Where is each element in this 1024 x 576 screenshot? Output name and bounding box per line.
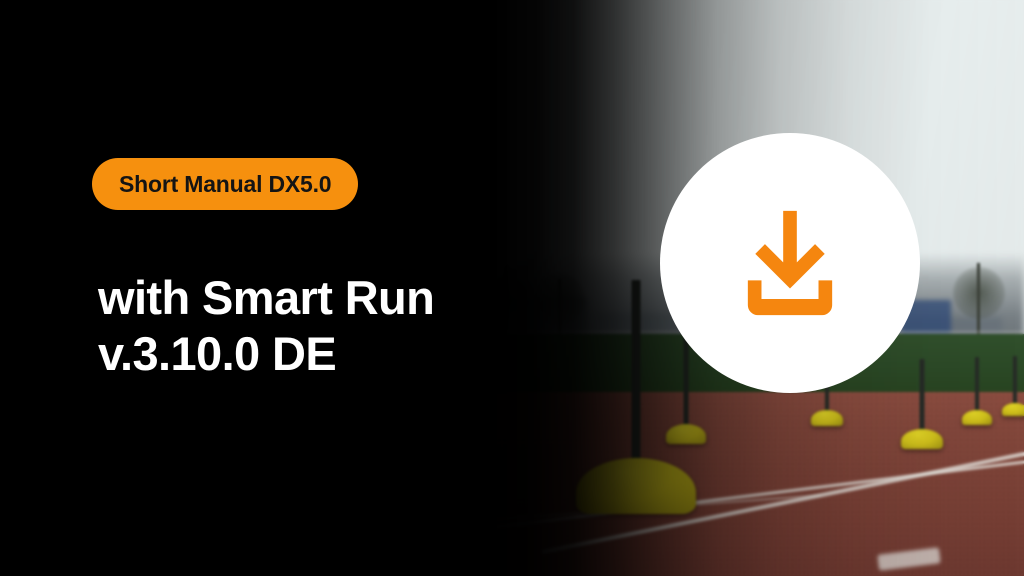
track-cone xyxy=(666,418,706,444)
track-cone xyxy=(576,444,696,514)
track-cone xyxy=(901,423,943,449)
manual-badge: Short Manual DX5.0 xyxy=(92,158,358,210)
page-title: with Smart Run v.3.10.0 DE xyxy=(98,270,538,382)
text-content: Short Manual DX5.0 with Smart Run v.3.10… xyxy=(92,0,552,576)
track-cone xyxy=(811,406,843,426)
manual-badge-label: Short Manual DX5.0 xyxy=(119,173,331,196)
page-title-line-1: with Smart Run xyxy=(98,270,538,326)
download-icon xyxy=(728,201,852,325)
track-cone xyxy=(1002,400,1024,416)
download-button[interactable] xyxy=(660,133,920,393)
promo-banner: Short Manual DX5.0 with Smart Run v.3.10… xyxy=(0,0,1024,576)
track-cone xyxy=(962,406,992,425)
page-title-line-2: v.3.10.0 DE xyxy=(98,326,538,382)
